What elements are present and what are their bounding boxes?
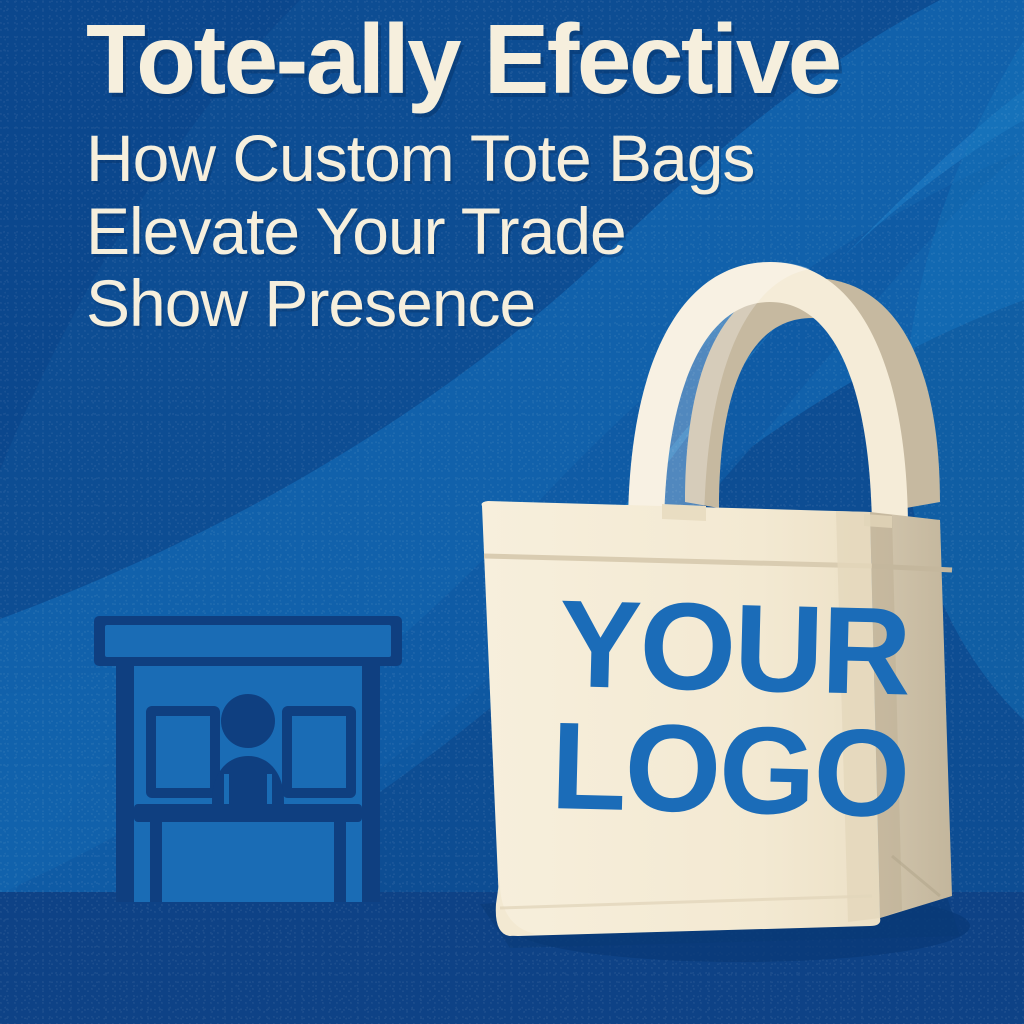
headline-group: Tote-ally Efective How Custom Tote Bags … xyxy=(86,12,986,340)
subtitle-line-3: Show Presence xyxy=(86,267,986,340)
tote-logo-print: YOUR LOGO xyxy=(549,575,911,844)
tote-bag-illustration: YOUR LOGO xyxy=(440,236,980,976)
poster-canvas: Tote-ally Efective How Custom Tote Bags … xyxy=(0,0,1024,1024)
trade-show-booth-icon xyxy=(78,596,418,916)
tote-logo-line-2: LOGO xyxy=(549,697,909,844)
booth-body xyxy=(94,616,402,902)
subtitle-line-1: How Custom Tote Bags xyxy=(86,122,986,195)
subtitle-line-2: Elevate Your Trade xyxy=(86,195,986,268)
page-title: Tote-ally Efective xyxy=(86,12,986,106)
page-subtitle: How Custom Tote Bags Elevate Your Trade … xyxy=(86,122,986,340)
